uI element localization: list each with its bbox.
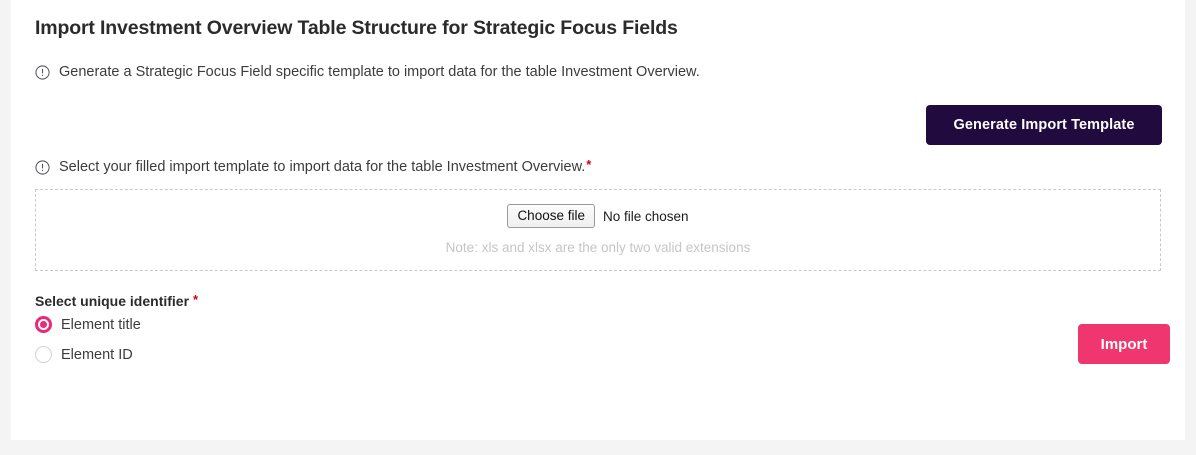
import-button[interactable]: Import bbox=[1078, 324, 1170, 364]
radio-label: Element title bbox=[61, 317, 141, 333]
generate-info-text: Generate a Strategic Focus Field specifi… bbox=[59, 63, 700, 82]
radio-option-element-title[interactable]: Element title bbox=[35, 316, 141, 333]
radio-option-element-id[interactable]: Element ID bbox=[35, 346, 133, 363]
select-info-row: Select your filled import template to im… bbox=[35, 158, 591, 177]
select-info-text: Select your filled import template to im… bbox=[59, 158, 585, 177]
file-input[interactable]: Choose file No file chosen bbox=[507, 204, 688, 228]
radio-unselected-icon[interactable] bbox=[35, 346, 52, 363]
dropzone-note: Note: xls and xlsx are the only two vali… bbox=[36, 240, 1160, 255]
alert-circle-icon bbox=[35, 65, 50, 80]
identifier-label: Select unique identifier* bbox=[35, 293, 198, 309]
page-title: Import Investment Overview Table Structu… bbox=[35, 17, 678, 40]
import-card: Import Investment Overview Table Structu… bbox=[11, 0, 1185, 440]
generate-import-template-button[interactable]: Generate Import Template bbox=[926, 105, 1162, 145]
radio-selected-icon[interactable] bbox=[35, 316, 52, 333]
choose-file-button[interactable]: Choose file bbox=[507, 204, 595, 228]
file-dropzone[interactable]: Choose file No file chosen Note: xls and… bbox=[35, 189, 1161, 271]
required-asterisk: * bbox=[586, 158, 591, 172]
file-input-wrapper: Choose file No file chosen bbox=[36, 204, 1160, 228]
identifier-label-text: Select unique identifier bbox=[35, 293, 189, 309]
generate-info-row: Generate a Strategic Focus Field specifi… bbox=[35, 63, 700, 82]
radio-label: Element ID bbox=[61, 347, 133, 363]
alert-circle-icon bbox=[35, 160, 50, 175]
file-chosen-status: No file chosen bbox=[603, 209, 689, 224]
required-asterisk: * bbox=[193, 293, 198, 307]
